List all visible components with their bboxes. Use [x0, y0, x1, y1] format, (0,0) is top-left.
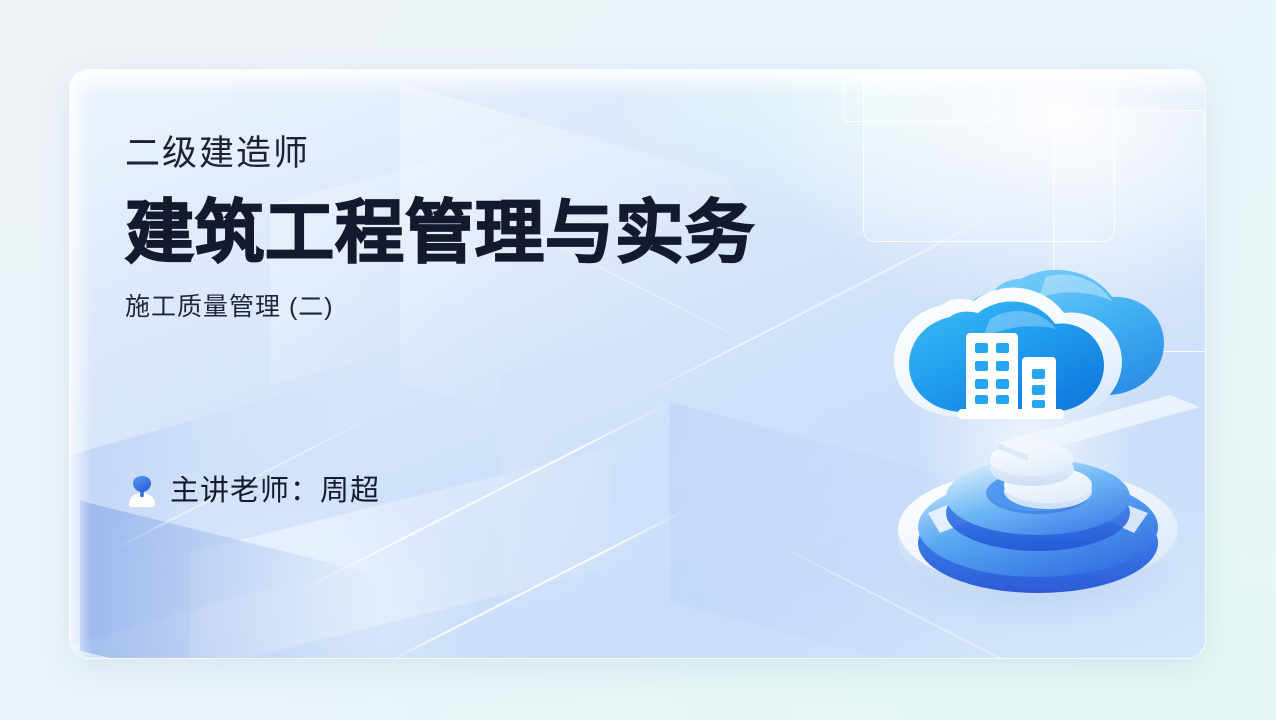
slide-stage: 二级建造师 建筑工程管理与实务 施工质量管理 (二) 主讲老师：周超	[0, 0, 1276, 720]
decorative-seam-line	[770, 540, 1065, 658]
illustration-glow	[875, 250, 1185, 640]
decorative-isometric-block-1	[70, 381, 330, 658]
chapter-subtitle: 施工质量管理 (二)	[125, 295, 905, 320]
course-category-label: 二级建造师	[125, 136, 905, 171]
presenter-name-label: 主讲老师：周超	[170, 477, 380, 506]
background-wash-bottom-left	[70, 358, 630, 658]
page-title: 建筑工程管理与实务	[125, 197, 905, 269]
decorative-panel-outline-b	[1053, 110, 1205, 352]
decorative-seam-line	[370, 507, 692, 658]
decorative-panel-outline-small	[843, 70, 995, 122]
cloud-building-3d-icon	[870, 245, 1200, 645]
slide-card: 二级建造师 建筑工程管理与实务 施工质量管理 (二) 主讲老师：周超	[70, 70, 1205, 658]
presenter-row: 主讲老师：周超	[125, 474, 380, 508]
decorative-isometric-plane-6	[670, 402, 1030, 658]
presenter-user-icon	[125, 474, 159, 508]
slide-text-block: 二级建造师 建筑工程管理与实务 施工质量管理 (二)	[125, 136, 905, 320]
decorative-isometric-block-2	[80, 501, 380, 658]
